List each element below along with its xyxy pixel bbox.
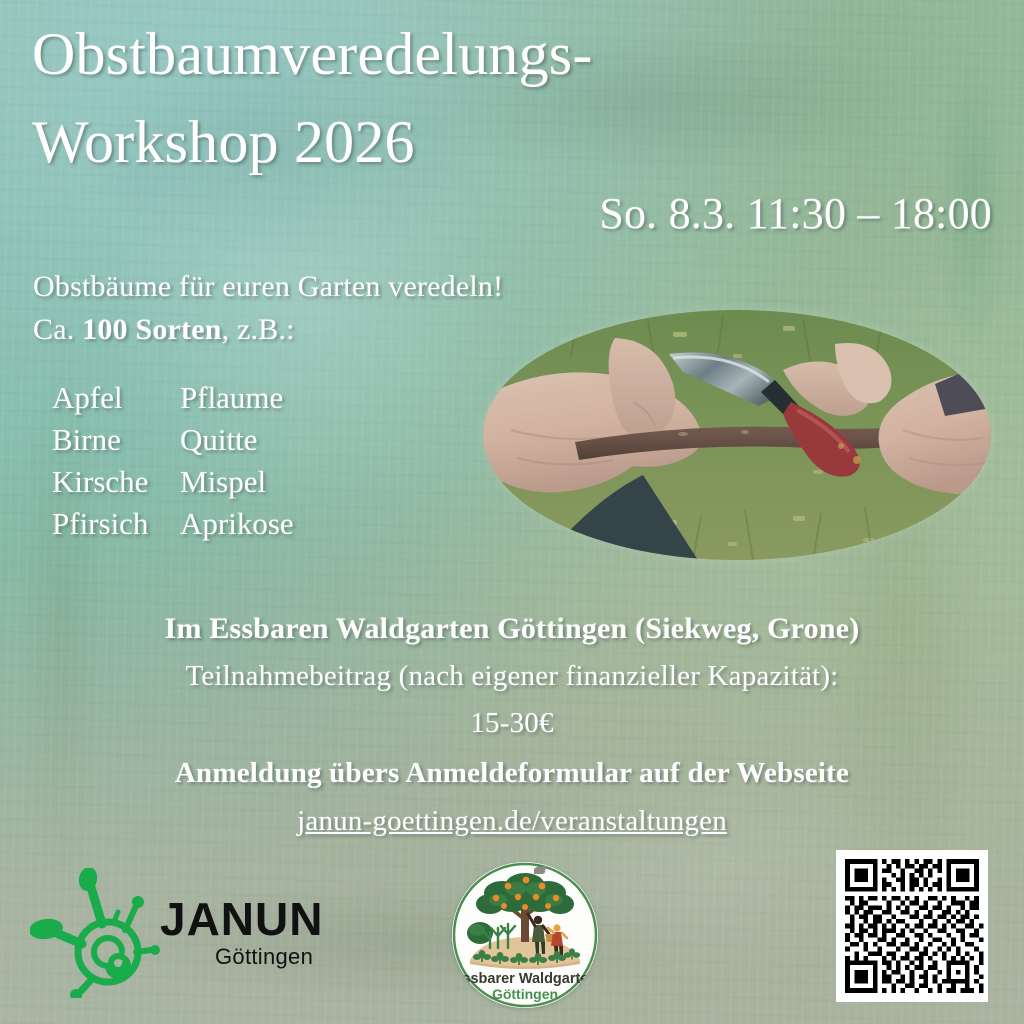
fee-label: Teilnahmebeitrag (nach eigener finanziel… xyxy=(0,660,1024,693)
fruit-item: Aprikose xyxy=(180,508,294,539)
waldgarten-line2: Göttingen xyxy=(492,986,558,1002)
event-location: Im Essbaren Waldgarten Göttingen (Siekwe… xyxy=(0,612,1024,646)
poster-title-line1: Obstbaumveredelungs- xyxy=(32,24,593,86)
lead-suffix: , z.B.: xyxy=(222,313,295,346)
website-url-link[interactable]: janun-goettingen.de/veranstaltungen xyxy=(0,805,1024,838)
qr-code-icon[interactable] xyxy=(836,850,988,1002)
janun-logo: JANUN Göttingen xyxy=(30,868,320,998)
fruit-item: Apfel xyxy=(52,382,180,413)
fruit-item: Kirsche xyxy=(52,466,180,497)
fee-amount: 15-30€ xyxy=(0,707,1024,740)
janun-spiral-icon xyxy=(30,868,165,998)
janun-subtitle: Göttingen xyxy=(215,946,313,968)
lead-prefix: Ca. xyxy=(33,313,82,346)
waldgarten-emblem-icon: Essbarer Waldgarten Göttingen xyxy=(452,862,598,1008)
fruit-item: Mispel xyxy=(180,466,294,497)
signup-note: Anmeldung übers Anmeldeformular auf der … xyxy=(0,757,1024,790)
lead-text-line1: Obstbäume für euren Garten veredeln! xyxy=(33,270,503,304)
grafting-photo xyxy=(483,310,991,560)
lead-varieties-count: 100 Sorten xyxy=(82,313,222,346)
janun-wordmark: JANUN xyxy=(160,896,323,942)
lead-text-line2: Ca. 100 Sorten, z.B.: xyxy=(33,313,295,347)
essbarer-waldgarten-logo: Essbarer Waldgarten Göttingen xyxy=(452,862,598,1008)
fruit-item: Quitte xyxy=(180,424,294,455)
poster-title-line2: Workshop 2026 xyxy=(32,112,415,174)
event-datetime: So. 8.3. 11:30 – 18:00 xyxy=(599,188,992,239)
fruit-item: Pflaume xyxy=(180,382,294,413)
fruit-variety-list: Apfel Pflaume Birne Quitte Kirsche Mispe… xyxy=(52,382,294,539)
fruit-item: Birne xyxy=(52,424,180,455)
qr-code[interactable] xyxy=(836,850,988,1002)
fruit-item: Pfirsich xyxy=(52,508,180,539)
grafting-photo-illustration xyxy=(483,310,991,560)
waldgarten-line1: Essbarer Waldgarten xyxy=(453,971,598,987)
poster-canvas: Obstbaumveredelungs- Workshop 2026 So. 8… xyxy=(0,0,1024,1024)
